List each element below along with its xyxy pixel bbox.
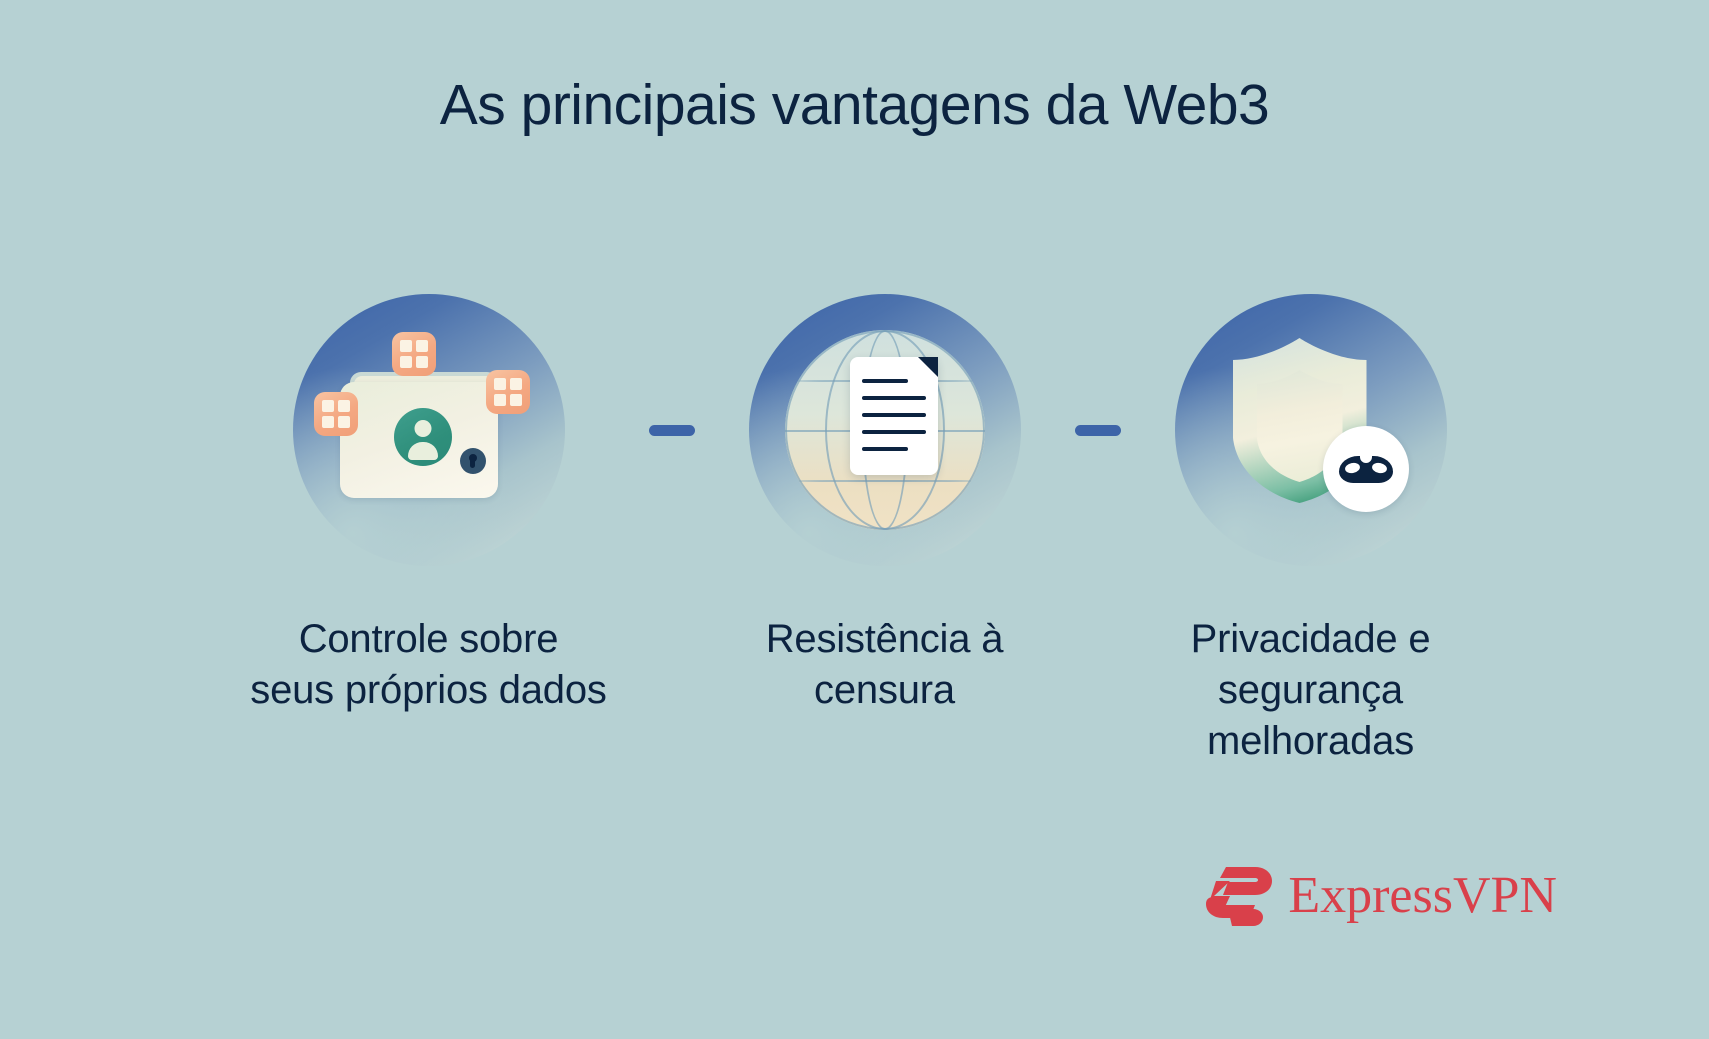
avatar-icon <box>394 408 452 466</box>
avatar-body <box>408 442 438 460</box>
expressvpn-logo: ExpressVPN <box>1206 865 1557 927</box>
benefit-card-censorship: Resistência à censura <box>695 290 1075 716</box>
benefit-card-own-data: Controle sobre seus próprios dados <box>209 290 649 716</box>
benefit-icon-wrap-1 <box>289 290 569 570</box>
anonymity-mask-icon <box>1339 456 1393 483</box>
expressvpn-e-logo <box>1206 865 1272 927</box>
avatar-head <box>414 420 431 437</box>
data-block-icon-2 <box>314 392 358 436</box>
globe-with-document-icon <box>780 325 990 535</box>
benefit-caption-3: Privacidade e segurança melhoradas <box>1191 614 1431 768</box>
mask-nose-notch <box>1360 454 1372 463</box>
benefit-icon-wrap-3 <box>1171 290 1451 570</box>
expressvpn-wordmark: ExpressVPN <box>1288 870 1557 922</box>
data-block-icon-3 <box>486 370 530 414</box>
benefits-row: Controle sobre seus próprios dados <box>0 290 1709 768</box>
gradient-disc-3 <box>1175 294 1447 566</box>
document-text-lines <box>862 379 926 451</box>
document-icon <box>850 357 938 475</box>
data-block-icon-1 <box>392 332 436 376</box>
benefit-icon-wrap-2 <box>745 290 1025 570</box>
document-folded-corner <box>918 357 938 377</box>
mask-badge <box>1323 426 1409 512</box>
shield-with-mask-icon <box>1211 330 1411 530</box>
wallet-with-data-blocks-icon <box>314 330 544 530</box>
separator-dash-2 <box>1075 425 1121 436</box>
benefit-card-privacy: Privacidade e segurança melhoradas <box>1121 290 1501 768</box>
gradient-disc-1 <box>293 294 565 566</box>
separator-dash-1 <box>649 425 695 436</box>
globe-parallel-south <box>785 480 985 482</box>
benefit-caption-2: Resistência à censura <box>766 614 1004 716</box>
gradient-disc-2 <box>749 294 1021 566</box>
benefit-caption-1: Controle sobre seus próprios dados <box>250 614 606 716</box>
page-title: As principais vantagens da Web3 <box>0 74 1709 137</box>
lock-keyhole-icon <box>460 448 486 474</box>
